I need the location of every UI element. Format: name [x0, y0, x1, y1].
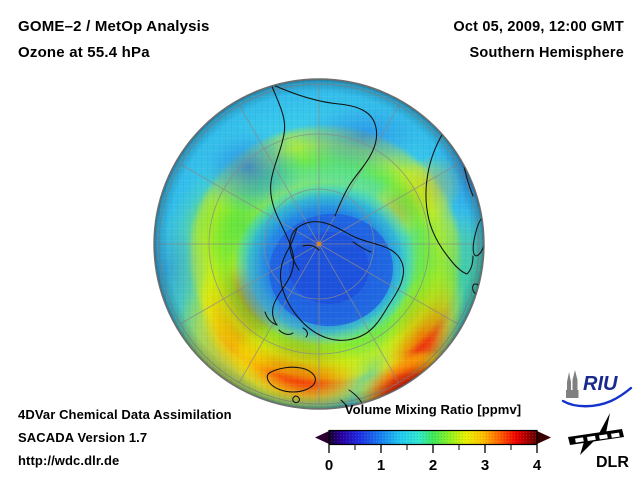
footer-url-link[interactable]: http://wdc.dlr.de [18, 449, 232, 472]
cathedral-icon [566, 370, 579, 398]
colorbar-tick-3: 3 [481, 457, 489, 474]
header-left-block: GOME–2 / MetOp Analysis Ozone at 55.4 hP… [18, 14, 210, 66]
colorbar-left-cap [315, 431, 329, 444]
riu-wordmark: RIU [583, 373, 618, 395]
colorbar-tick-2: 2 [429, 457, 437, 474]
colorbar-dither-overlay [329, 431, 537, 445]
hemisphere-label: Southern Hemisphere [453, 40, 624, 66]
colorbar-tick-0: 0 [325, 457, 333, 474]
globe-data-layer [129, 78, 519, 455]
footer-method-line: 4DVar Chemical Data Assimilation [18, 403, 232, 426]
footer-info-block: 4DVar Chemical Data Assimilation SACADA … [18, 403, 232, 472]
colorbar-right-cap [537, 431, 551, 444]
header-right-block: Oct 05, 2009, 12:00 GMT Southern Hemisph… [453, 14, 624, 66]
dlr-wordmark: DLR [596, 454, 629, 471]
colorbar-tick-1: 1 [377, 457, 385, 474]
colorbar-legend: Volume Mixing Ratio [ppmv] 01234 [313, 402, 553, 476]
ozone-globe-map [153, 78, 485, 410]
riu-logo: RIU [561, 368, 635, 408]
page-subtitle: Ozone at 55.4 hPa [18, 40, 210, 66]
footer-version-line: SACADA Version 1.7 [18, 426, 232, 449]
dlr-logo: DLR [566, 411, 634, 473]
colorbar-ticks [329, 445, 537, 453]
timestamp-label: Oct 05, 2009, 12:00 GMT [453, 14, 624, 40]
colorbar-tick-4: 4 [533, 457, 542, 474]
page-title: GOME–2 / MetOp Analysis [18, 14, 210, 40]
colorbar-tick-labels: 01234 [325, 457, 542, 474]
colorbar-title: Volume Mixing Ratio [ppmv] [313, 402, 553, 417]
